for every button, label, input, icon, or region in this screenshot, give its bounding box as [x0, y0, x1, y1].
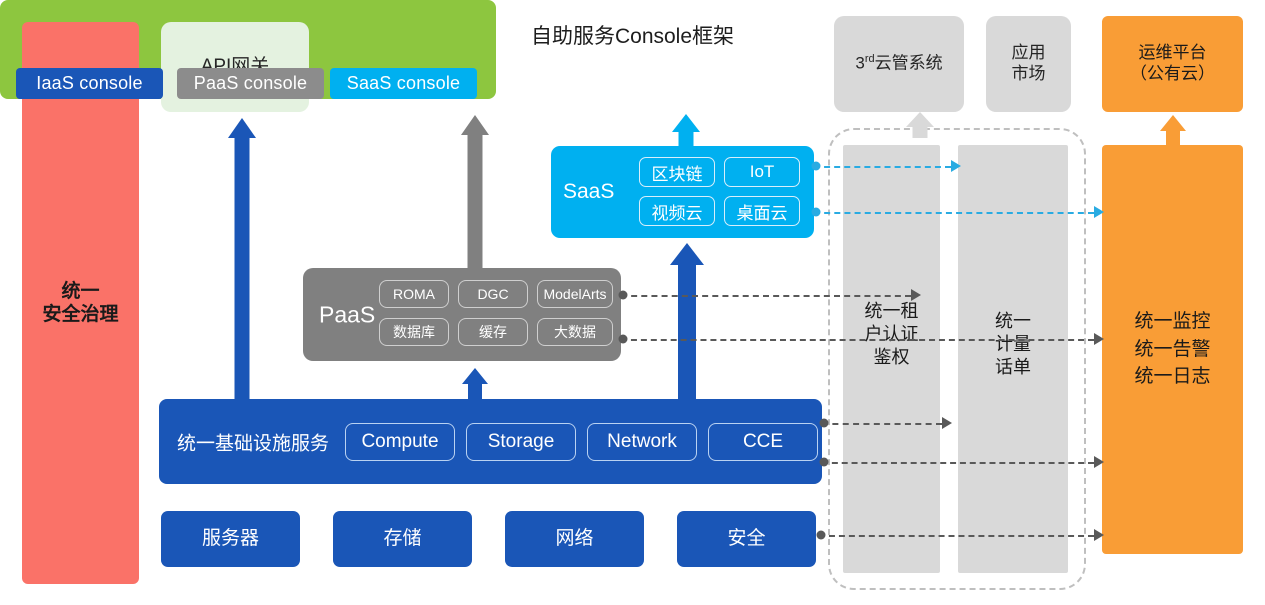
saas-console-chip[interactable]: SaaS console [330, 68, 477, 99]
unified-infrastructure-bar: 统一基础设施服务 Compute Storage Network CCE [159, 399, 822, 484]
resource-box-security[interactable]: 安全 [677, 511, 816, 567]
saas-item-desktop-cloud[interactable]: 桌面云 [724, 196, 800, 226]
arrow-infra-to-api-gateway [225, 118, 259, 400]
paas-console-chip[interactable]: PaaS console [177, 68, 324, 99]
console-frame-title: 自助服务Console框架 [0, 20, 1265, 50]
paas-block: PaaS ROMA DGC ModelArts 数据库 缓存 大数据 [303, 268, 621, 361]
unified-infrastructure-label: 统一基础设施服务 [177, 428, 329, 455]
arrow-infra-to-paas [459, 368, 491, 402]
dashed-infra-to-ops [822, 462, 1094, 464]
dashed-paas-to-ops [621, 339, 1094, 341]
unified-tenant-auth-label: 统一租 户认证 鉴权 [843, 300, 940, 369]
arrowhead-saas-auth [951, 160, 961, 172]
arrow-saas-to-console [669, 114, 703, 149]
third-party-cloud-label: 3rd云管系统 [855, 53, 942, 74]
arrow-to-third-party-cloud [903, 112, 937, 138]
arrowhead-paas-ops [1094, 333, 1104, 345]
dashed-paas-to-tenant-auth [621, 295, 911, 297]
resource-box-network[interactable]: 网络 [505, 511, 644, 567]
infra-item-storage[interactable]: Storage [466, 423, 576, 461]
infra-item-cce[interactable]: CCE [708, 423, 818, 461]
dot-infra-ops [820, 458, 829, 467]
dot-saas-auth [812, 162, 821, 171]
dashed-resources-to-ops [819, 535, 1094, 537]
dot-paas-auth [619, 291, 628, 300]
self-service-console-frame: 自助服务Console框架 IaaS console PaaS console … [0, 0, 496, 99]
unified-metering-billing-column: 统一 计量 话单 [958, 145, 1068, 573]
ops-platform-side-panel: 统一监控 统一告警 统一日志 [1102, 145, 1243, 554]
app-market-box: 应用 市场 [986, 16, 1071, 112]
saas-item-iot[interactable]: IoT [724, 157, 800, 187]
unified-metering-billing-label: 统一 计量 话单 [958, 310, 1068, 379]
ops-platform-public-cloud-box: 运维平台 （公有云） [1102, 16, 1243, 112]
arrow-infra-to-saas [669, 243, 705, 402]
architecture-diagram: 统一 安全治理 API网关 自助服务Console框架 IaaS console… [0, 0, 1265, 605]
infra-item-network[interactable]: Network [587, 423, 697, 461]
saas-block: SaaS 区块链 IoT 视频云 桌面云 [551, 146, 814, 238]
paas-item-modelarts[interactable]: ModelArts [537, 280, 613, 308]
paas-block-label: PaaS [319, 301, 375, 328]
dashed-infra-to-tenant-auth [822, 423, 942, 425]
dot-saas-ops [812, 208, 821, 217]
paas-item-database[interactable]: 数据库 [379, 318, 449, 346]
arrowhead-infra-auth [942, 417, 952, 429]
arrow-to-ops-platform [1158, 115, 1188, 148]
security-governance-panel: 统一 安全治理 [22, 22, 139, 584]
saas-item-blockchain[interactable]: 区块链 [639, 157, 715, 187]
paas-item-roma[interactable]: ROMA [379, 280, 449, 308]
paas-item-dgc[interactable]: DGC [458, 280, 528, 308]
saas-block-label: SaaS [563, 180, 614, 204]
arrowhead-resources-ops [1094, 529, 1104, 541]
dashed-saas-to-tenant-auth [814, 166, 951, 168]
arrow-paas-to-console [457, 115, 493, 270]
iaas-console-chip[interactable]: IaaS console [16, 68, 163, 99]
saas-item-video-cloud[interactable]: 视频云 [639, 196, 715, 226]
third-party-cloud-mgmt-box: 3rd云管系统 [834, 16, 964, 112]
dot-paas-ops [619, 335, 628, 344]
arrowhead-infra-ops [1094, 456, 1104, 468]
resource-box-storage[interactable]: 存储 [333, 511, 472, 567]
arrowhead-paas-auth [911, 289, 921, 301]
arrowhead-saas-ops [1094, 206, 1104, 218]
dashed-saas-to-ops [814, 212, 1094, 214]
resource-box-server[interactable]: 服务器 [161, 511, 300, 567]
dot-resources-ops [817, 531, 826, 540]
paas-item-bigdata[interactable]: 大数据 [537, 318, 613, 346]
unified-tenant-auth-column: 统一租 户认证 鉴权 [843, 145, 940, 573]
dot-infra-auth [820, 419, 829, 428]
paas-item-cache[interactable]: 缓存 [458, 318, 528, 346]
infra-item-compute[interactable]: Compute [345, 423, 455, 461]
